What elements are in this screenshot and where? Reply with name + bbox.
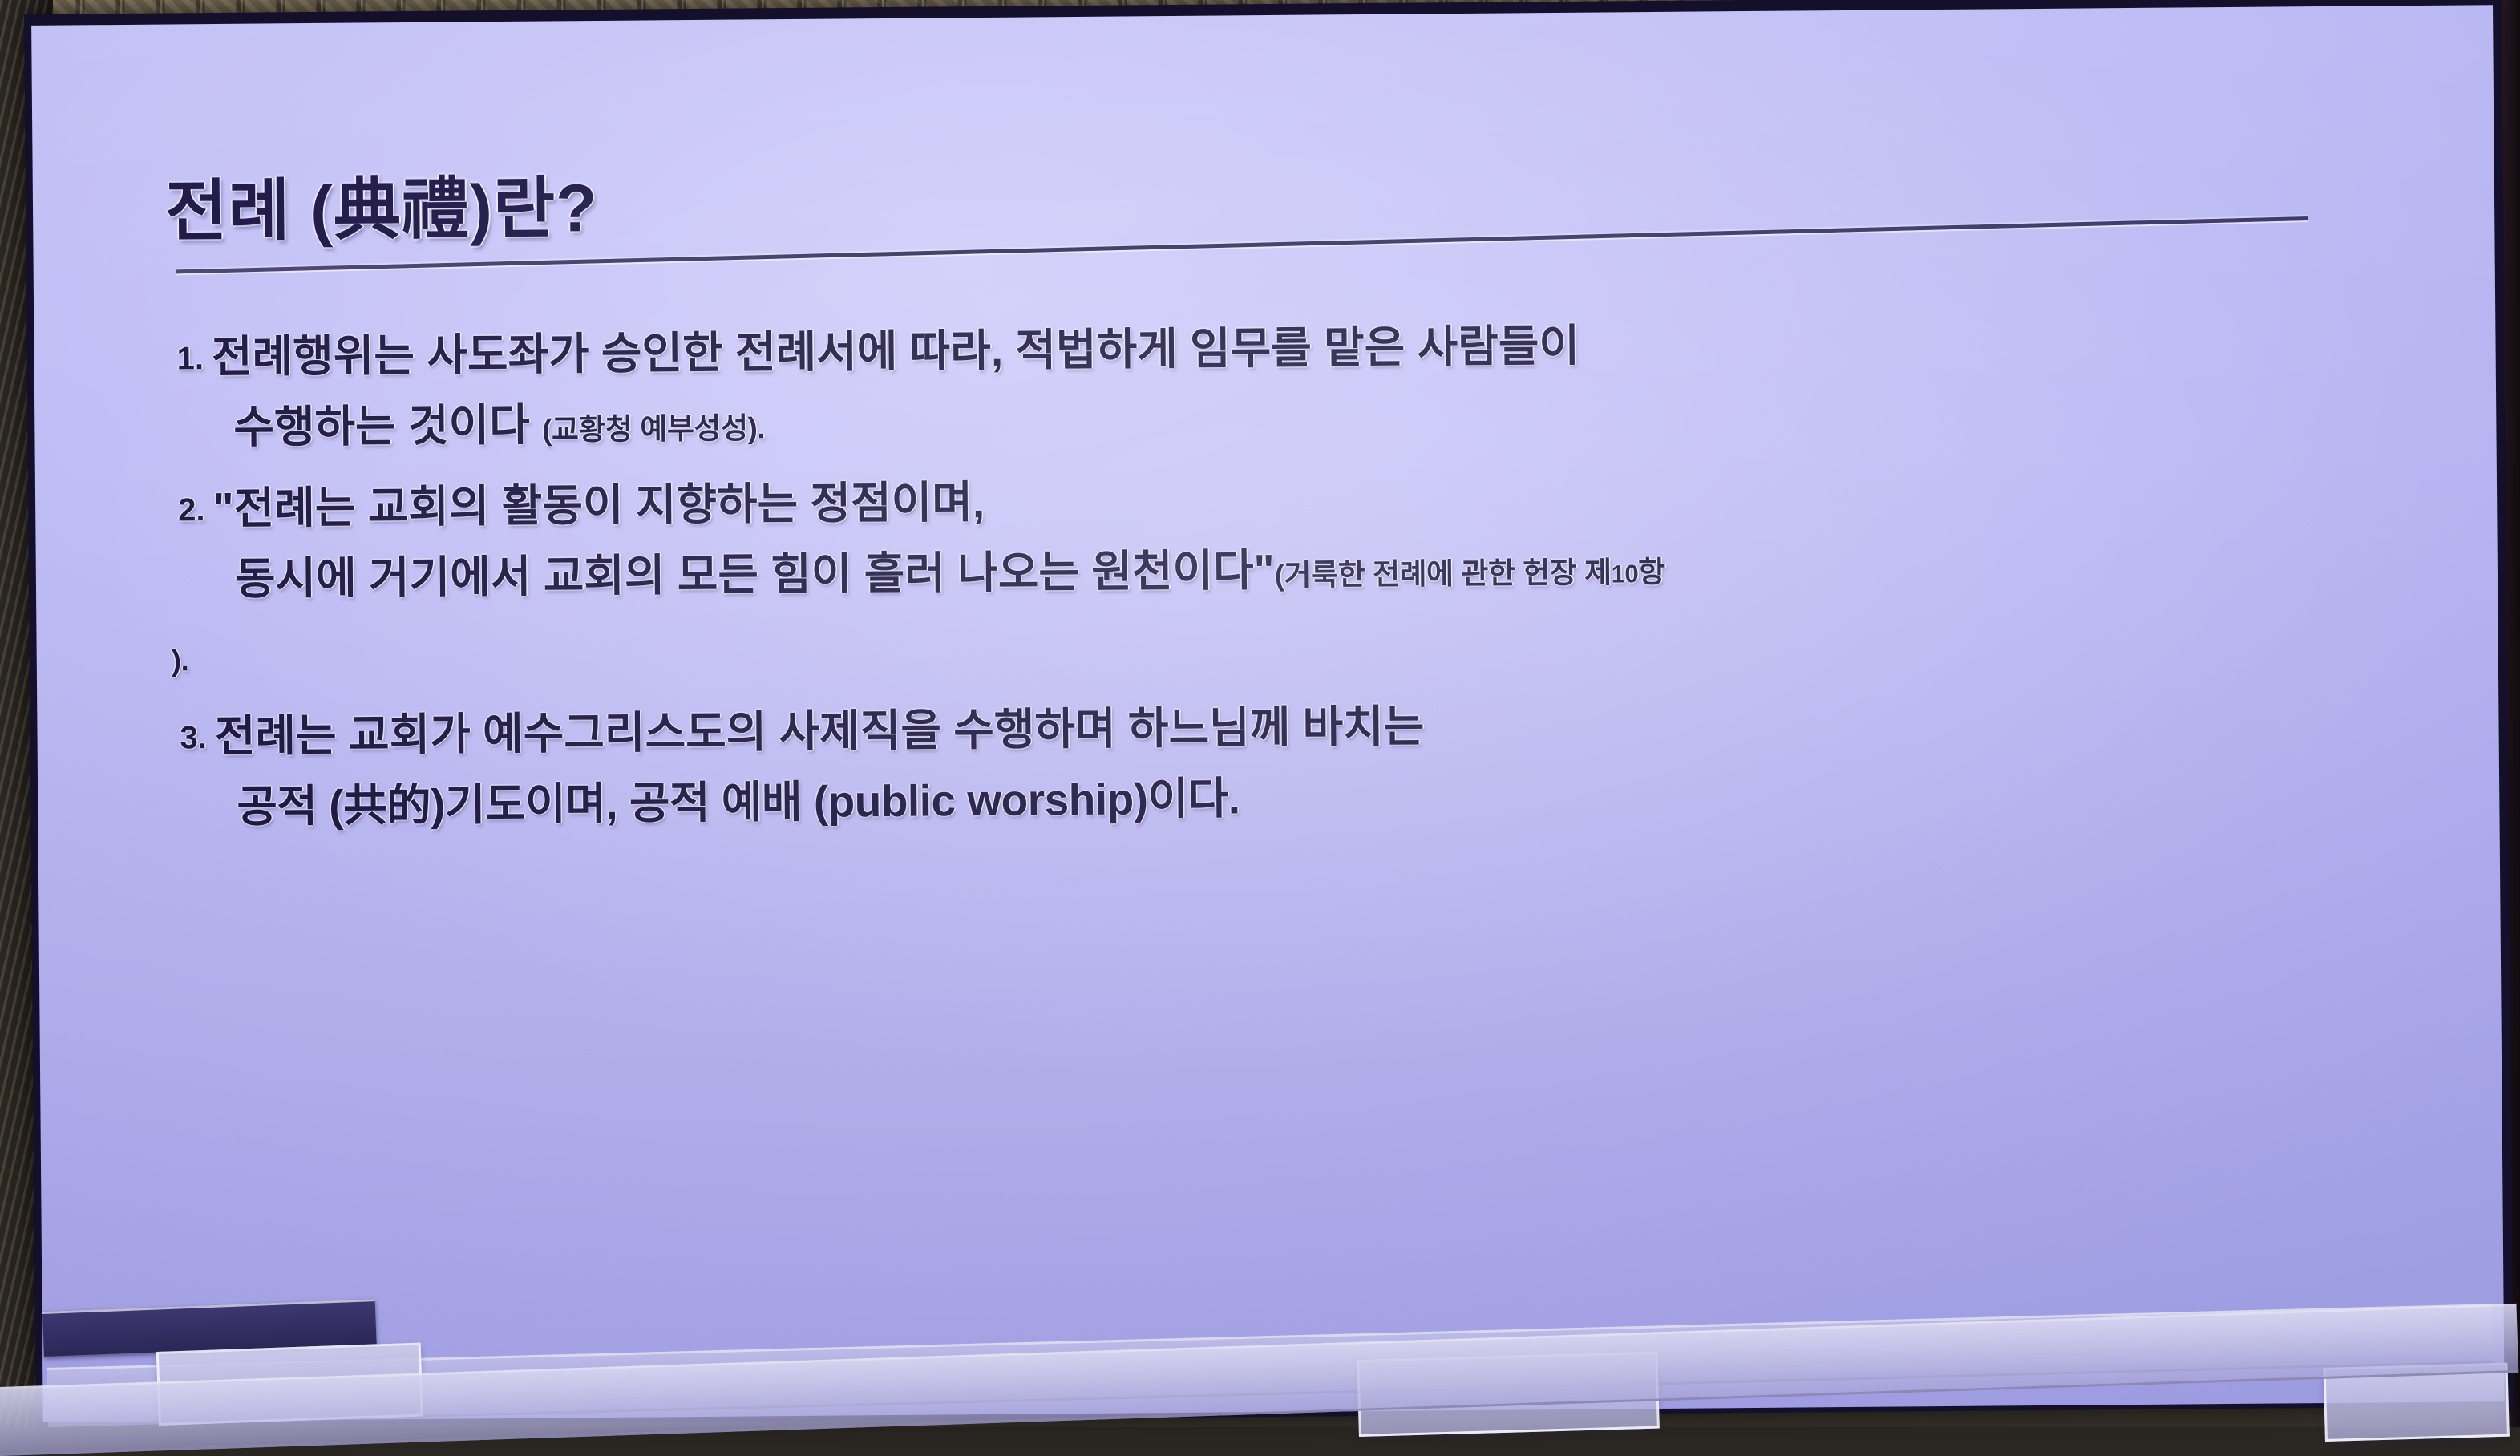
list-item-text: 전례행위는 사도좌가 승인한 전례서에 따라, 적법하게 임무를 맡은 사람들이 — [212, 321, 1580, 382]
list-item-marker: 1. — [176, 341, 204, 376]
list-item: 3.전례는 교회가 예수그리스도의 사제직을 수행하며 하느님께 바치는 공적 … — [37, 682, 2499, 843]
list-item-text: 공적 (共的)기도이며, 공적 예배 (public worship)이다. — [237, 773, 1240, 831]
list-item-text: 전례는 교회가 예수그리스도의 사제직을 수행하며 하느님께 바치는 — [215, 701, 1425, 761]
list-item: 2."전례는 교회의 활동이 지향하는 정점이며, 동시에 거기에서 교회의 모… — [35, 455, 2498, 697]
projection-screen: 전례 (典禮)란? 1.전례행위는 사도좌가 승인한 전례서에 따라, 적법하게… — [31, 5, 2504, 1422]
list-item-citation-close: ). — [172, 644, 189, 677]
list-item-marker: 2. — [178, 492, 205, 528]
slide-title: 전례 (典禮)란? — [165, 154, 598, 255]
list-item-citation-tail: 항 — [1638, 556, 1665, 588]
list-item-text: 수행하는 것이다 — [233, 400, 530, 452]
list-item-text: "전례는 교회의 활동이 지향하는 정점이며, — [212, 477, 985, 533]
presentation-slide: 전례 (典禮)란? 1.전례행위는 사도좌가 승인한 전례서에 따라, 적법하게… — [31, 5, 2504, 1422]
list-item-citation: (거룩한 전례에 관한 헌장 제 — [1275, 556, 1612, 592]
list-item-citation: (교황청 예부성성). — [542, 411, 765, 446]
list-item: 1.전례행위는 사도좌가 승인한 전례서에 따라, 적법하게 임무를 맡은 사람… — [34, 303, 2496, 469]
list-item-marker: 3. — [180, 720, 207, 755]
list-item-citation-number: 10 — [1612, 560, 1639, 588]
slide-body-list: 1.전례행위는 사도좌가 승인한 전례서에 따라, 적법하게 임무를 맡은 사람… — [34, 303, 2499, 849]
projection-screen-bezel: 전례 (典禮)란? 1.전례행위는 사도좌가 승인한 전례서에 따라, 적법하게… — [24, 0, 2514, 1427]
list-item-text: 동시에 거기에서 교회의 모든 힘이 흘러 나오는 원천이다" — [235, 545, 1275, 604]
